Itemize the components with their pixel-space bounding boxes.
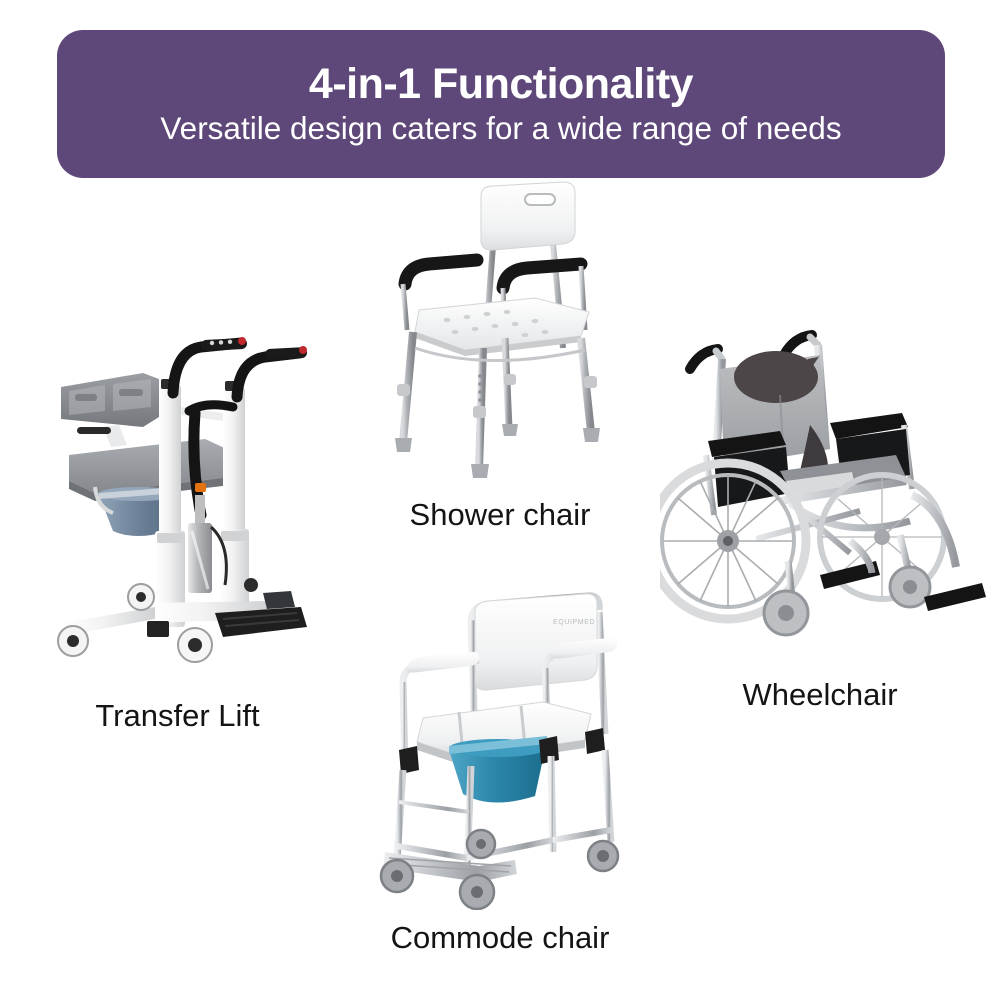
commode-chair-bucket (449, 736, 547, 803)
shower-chair-handle-cutout (525, 194, 555, 205)
product-image-commode-chair: EQUIPMED (375, 590, 635, 910)
transfer-lift-mast (155, 379, 185, 627)
page-subtitle: Versatile design caters for a wide range… (160, 111, 841, 146)
product-image-transfer-lift (55, 335, 355, 665)
transfer-lift-orange-marker (195, 483, 206, 492)
header-banner: 4-in-1 Functionality Versatile design ca… (57, 30, 945, 178)
page-title: 4-in-1 Functionality (309, 62, 693, 107)
shower-chair-backrest (481, 182, 575, 250)
transfer-lift-handlebars (173, 337, 307, 397)
product-label-wheelchair: Wheelchair (655, 677, 985, 713)
product-label-shower-chair: Shower chair (330, 497, 670, 533)
product-label-commode-chair: Commode chair (330, 920, 670, 956)
product-image-wheelchair (660, 325, 1000, 645)
commode-chair-brand-mark: EQUIPMED (553, 619, 595, 626)
infographic-page: 4-in-1 Functionality Versatile design ca… (0, 0, 1000, 1000)
product-label-transfer-lift: Transfer Lift (0, 698, 355, 734)
transfer-lift-release-lever (77, 427, 111, 434)
product-image-shower-chair (385, 180, 625, 480)
transfer-lift-backrest (61, 373, 159, 427)
transfer-lift-mast-right (219, 381, 249, 617)
transfer-lift-cylinder (188, 495, 212, 593)
